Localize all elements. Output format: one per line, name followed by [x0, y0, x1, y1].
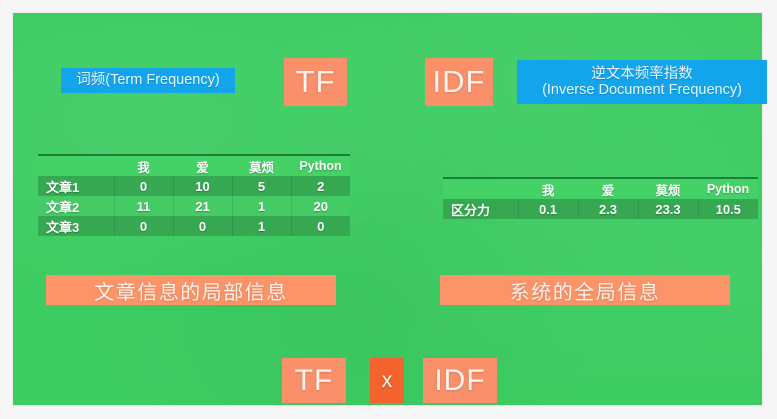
cell-value: 0 — [291, 216, 350, 236]
cell-value: 1 — [232, 196, 291, 216]
caption-global-info: 系统的全局信息 — [440, 275, 730, 305]
tf-definition-tag: 词频(Term Frequency) — [61, 68, 235, 93]
column-header-ai: 爱 — [578, 179, 638, 199]
tf-definition-text: 词频(Term Frequency) — [76, 72, 219, 88]
document-term-table-grid: 我 爱 莫烦 Python 文章1 0 10 5 2 文章2 11 — [38, 156, 350, 236]
column-header-ai: 爱 — [173, 156, 232, 176]
cell-value: 0 — [114, 216, 173, 236]
table-row: 文章1 0 10 5 2 — [38, 176, 350, 196]
cell-value: 0 — [173, 216, 232, 236]
table-row: 区分力 0.1 2.3 23.3 10.5 — [443, 199, 758, 219]
cell-value: 10 — [173, 176, 232, 196]
document-term-table: 我 爱 莫烦 Python 文章1 0 10 5 2 文章2 11 — [38, 154, 350, 236]
caption-local-info: 文章信息的局部信息 — [46, 275, 336, 305]
row-label: 区分力 — [443, 199, 518, 219]
cell-value: 23.3 — [638, 199, 698, 219]
column-header-blank — [443, 179, 518, 199]
table-header-row: 我 爱 莫烦 Python — [38, 156, 350, 176]
formula-tf-text: TF — [295, 364, 334, 398]
column-header-mofan: 莫烦 — [232, 156, 291, 176]
formula-idf-text: IDF — [434, 364, 485, 398]
column-header-python: Python — [291, 156, 350, 176]
column-header-mofan: 莫烦 — [638, 179, 698, 199]
cell-value: 2.3 — [578, 199, 638, 219]
column-header-python: Python — [698, 179, 758, 199]
idf-acronym-tag: IDF — [425, 58, 493, 106]
column-header-wo: 我 — [114, 156, 173, 176]
cell-value: 10.5 — [698, 199, 758, 219]
row-label: 文章2 — [38, 196, 114, 216]
formula-idf-box: IDF — [423, 358, 497, 403]
cell-value: 2 — [291, 176, 350, 196]
column-header-wo: 我 — [518, 179, 578, 199]
idf-acronym-text: IDF — [433, 64, 486, 100]
slide-canvas: 词频(Term Frequency) TF IDF 逆文本频率指数 (Inver… — [13, 13, 762, 405]
row-label: 文章3 — [38, 216, 114, 236]
row-label: 文章1 — [38, 176, 114, 196]
formula-multiply-box: x — [370, 358, 404, 403]
idf-definition-tag: 逆文本频率指数 (Inverse Document Frequency) — [517, 60, 767, 104]
table-header-row: 我 爱 莫烦 Python — [443, 179, 758, 199]
formula-multiply-text: x — [382, 369, 393, 393]
cell-value: 0 — [114, 176, 173, 196]
idf-definition-line2: (Inverse Document Frequency) — [542, 82, 742, 98]
cell-value: 5 — [232, 176, 291, 196]
cell-value: 1 — [232, 216, 291, 236]
idf-definition-line1: 逆文本频率指数 — [591, 66, 693, 82]
column-header-blank — [38, 156, 114, 176]
cell-value: 0.1 — [518, 199, 578, 219]
table-row: 文章3 0 0 1 0 — [38, 216, 350, 236]
discrimination-table-grid: 我 爱 莫烦 Python 区分力 0.1 2.3 23.3 10.5 — [443, 179, 758, 219]
caption-global-info-text: 系统的全局信息 — [510, 276, 661, 305]
slide-root: 词频(Term Frequency) TF IDF 逆文本频率指数 (Inver… — [0, 0, 777, 419]
tf-acronym-text: TF — [296, 64, 336, 100]
discrimination-table: 我 爱 莫烦 Python 区分力 0.1 2.3 23.3 10.5 — [443, 177, 758, 219]
cell-value: 21 — [173, 196, 232, 216]
cell-value: 20 — [291, 196, 350, 216]
formula-tf-box: TF — [282, 358, 346, 403]
table-row: 文章2 11 21 1 20 — [38, 196, 350, 216]
cell-value: 11 — [114, 196, 173, 216]
tf-acronym-tag: TF — [284, 58, 347, 106]
caption-local-info-text: 文章信息的局部信息 — [94, 276, 288, 305]
